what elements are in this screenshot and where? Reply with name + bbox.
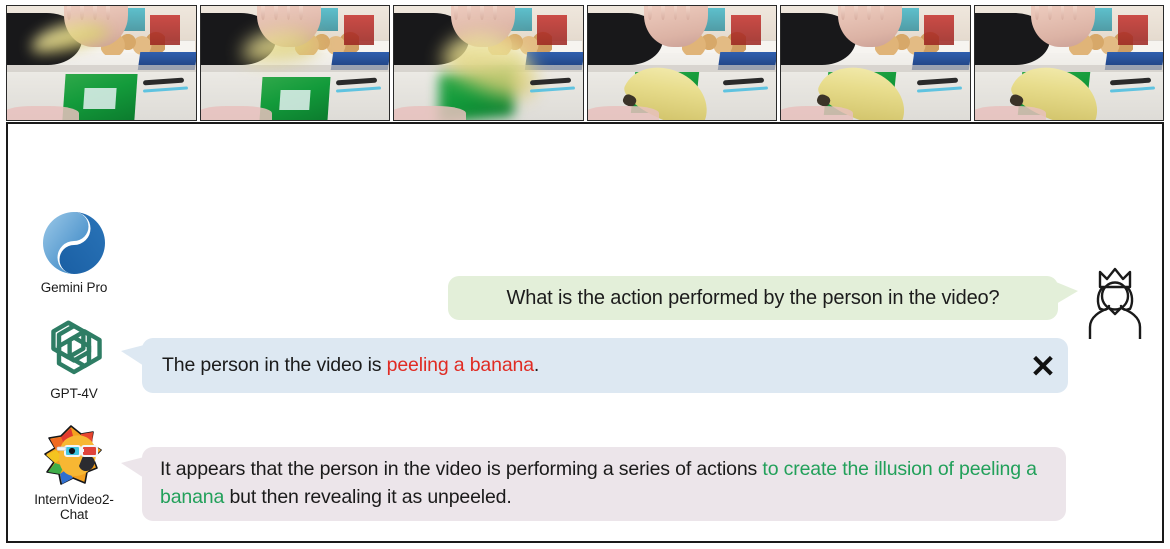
parrot-3d-glasses-icon	[41, 422, 107, 488]
video-frame-3[interactable]	[393, 5, 584, 121]
model-avatar-gpt-4v: GPT-4V	[22, 316, 126, 401]
screenshot-root: What is the action performed by the pers…	[0, 0, 1170, 549]
x-mark-icon: ✕	[1030, 351, 1056, 382]
video-frame-strip	[6, 5, 1164, 121]
model-avatar-gemini-pro: Gemini Pro	[22, 210, 126, 295]
gpt-answer-text: It appears that the person in the video …	[160, 456, 1048, 511]
gemini-answer-text: The person in the video is peeling a ban…	[162, 352, 539, 380]
openai-knot-icon	[41, 316, 107, 382]
gemini-answer-bubble: The person in the video is peeling a ban…	[142, 338, 1068, 393]
crowned-person-icon	[1082, 261, 1148, 339]
model-name-internvideo2-chat: InternVideo2-Chat	[22, 492, 126, 522]
gemini-answer-seg-2: .	[534, 354, 539, 376]
video-frame-2[interactable]	[200, 5, 391, 121]
video-frame-4[interactable]	[587, 5, 778, 121]
model-name-internvideo2-chat-line1: InternVideo2-	[34, 492, 114, 507]
gpt-answer-seg-0: It appears that the person in the video …	[160, 458, 762, 480]
video-frame-5[interactable]	[780, 5, 971, 121]
gemini-swirl-icon	[41, 210, 107, 276]
user-avatar	[1078, 261, 1152, 344]
model-avatar-internvideo2-chat: InternVideo2-Chat	[22, 422, 126, 522]
gemini-answer-seg-0: The person in the video is	[162, 354, 387, 376]
model-name-gemini-pro: Gemini Pro	[22, 280, 126, 295]
video-frame-1[interactable]	[6, 5, 197, 121]
model-name-internvideo2-chat-line2: Chat	[60, 507, 88, 522]
chat-panel: What is the action performed by the pers…	[6, 122, 1164, 543]
gemini-answer-seg-1: peeling a banana	[387, 354, 534, 376]
gpt-answer-seg-2: but then revealing it as unpeeled.	[224, 486, 511, 508]
question-text: What is the action performed by the pers…	[507, 284, 1000, 312]
model-name-gpt-4v: GPT-4V	[22, 386, 126, 401]
gpt-answer-bubble: It appears that the person in the video …	[142, 447, 1066, 521]
video-frame-6[interactable]	[974, 5, 1165, 121]
question-bubble-tail	[1056, 282, 1078, 304]
question-bubble: What is the action performed by the pers…	[448, 276, 1058, 320]
